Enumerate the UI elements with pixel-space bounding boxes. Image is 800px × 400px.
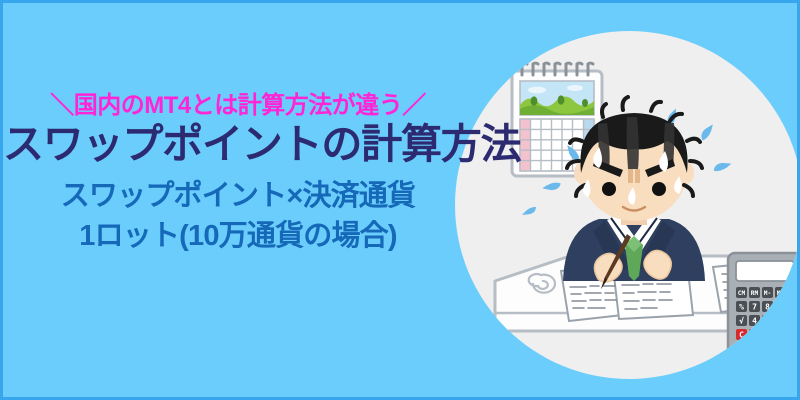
svg-text:9: 9 xyxy=(778,303,783,312)
illustration-stressed-businessman: CMRM M-M+ ÷ %7 89 × √4 56 − C1 23 + AC0 xyxy=(455,31,800,379)
svg-text:+: + xyxy=(791,338,797,348)
svg-text:2: 2 xyxy=(765,331,770,340)
svg-text:8: 8 xyxy=(765,303,770,312)
svg-text:5: 5 xyxy=(765,317,770,326)
svg-text:4: 4 xyxy=(752,317,757,326)
svg-text:.: . xyxy=(765,345,770,354)
subline-formula: スワップポイント×決済通貨 xyxy=(3,176,473,216)
svg-text:÷: ÷ xyxy=(791,289,796,298)
calculator-display xyxy=(736,261,794,281)
svg-text:RM: RM xyxy=(751,290,759,297)
svg-text:CM: CM xyxy=(738,290,746,297)
svg-text:AC: AC xyxy=(738,347,746,354)
svg-text:=: = xyxy=(778,345,783,354)
svg-text:7: 7 xyxy=(752,303,757,312)
svg-text:0: 0 xyxy=(752,345,757,354)
svg-text:M-: M- xyxy=(764,290,771,297)
calculator-icon: CMRM M-M+ ÷ %7 89 × √4 56 − C1 23 + AC0 xyxy=(728,253,800,359)
svg-text:%: % xyxy=(739,303,744,312)
svg-text:−: − xyxy=(791,317,796,326)
page-title: スワップポイントの計算方法 xyxy=(3,122,473,166)
svg-text:3: 3 xyxy=(778,331,783,340)
subline-lot: 1ロット(10万通貨の場合) xyxy=(3,216,473,256)
svg-text:C: C xyxy=(739,331,744,340)
svg-text:6: 6 xyxy=(778,317,783,326)
eyebrow-text: ＼国内のMT4とは計算方法が違う／ xyxy=(3,93,473,118)
headline-block: ＼国内のMT4とは計算方法が違う／ スワップポイントの計算方法 スワップポイント… xyxy=(3,93,473,256)
svg-text:×: × xyxy=(791,303,796,312)
svg-text:1: 1 xyxy=(752,331,757,340)
banner-root: CMRM M-M+ ÷ %7 89 × √4 56 − C1 23 + AC0 xyxy=(0,0,800,400)
svg-text:M+: M+ xyxy=(777,290,785,297)
svg-text:√: √ xyxy=(739,317,744,326)
